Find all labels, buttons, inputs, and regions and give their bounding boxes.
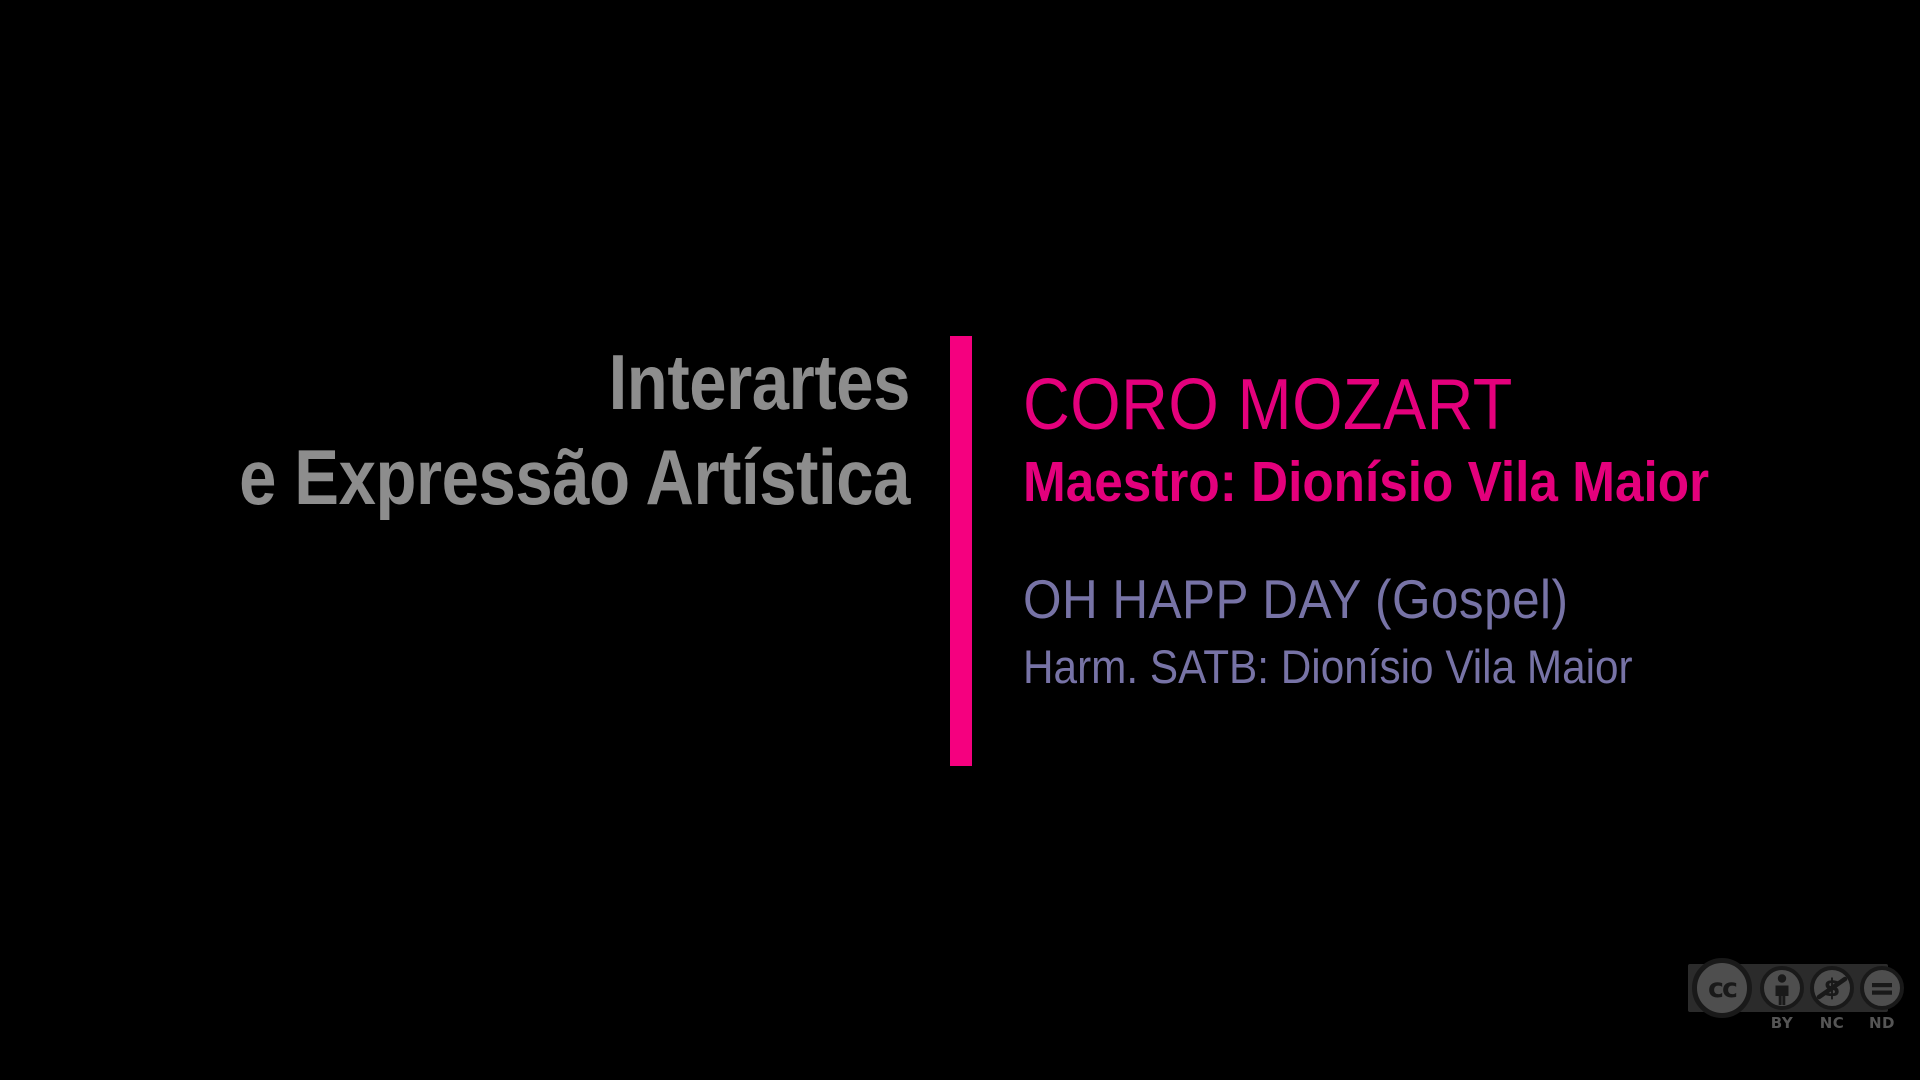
cc-badge-labels: BY NC ND — [1688, 1014, 1888, 1034]
conductor-credit: Maestro: Dionísio Vila Maior — [1023, 447, 1797, 518]
cc-label-nc: NC — [1806, 1014, 1858, 1032]
programme-title: Interartes e Expressão Artística — [0, 335, 910, 525]
equals-icon — [1860, 966, 1904, 1010]
creative-commons-icon: cc — [1692, 958, 1752, 1018]
ensemble-name: CORO MOZART — [1023, 368, 1797, 443]
no-money-icon: $ — [1810, 966, 1854, 1010]
cc-mark-label: cc — [1697, 963, 1747, 1013]
vertical-divider-rule — [950, 336, 972, 766]
programme-title-line-1: Interartes — [127, 335, 910, 430]
title-slide: Interartes e Expressão Artística CORO MO… — [0, 0, 1920, 1080]
arrangement-credit: Harm. SATB: Dionísio Vila Maior — [1023, 640, 1797, 695]
performance-credits: CORO MOZART Maestro: Dionísio Vila Maior… — [1023, 368, 1883, 694]
piece-title: OH HAPP DAY (Gospel) — [1023, 570, 1797, 628]
person-icon — [1760, 966, 1804, 1010]
cc-label-by: BY — [1756, 1014, 1808, 1032]
creative-commons-badge: cc $ BY NC ND — [1688, 958, 1888, 1034]
programme-title-line-2: e Expressão Artística — [127, 430, 910, 525]
cc-label-nd: ND — [1856, 1014, 1908, 1032]
